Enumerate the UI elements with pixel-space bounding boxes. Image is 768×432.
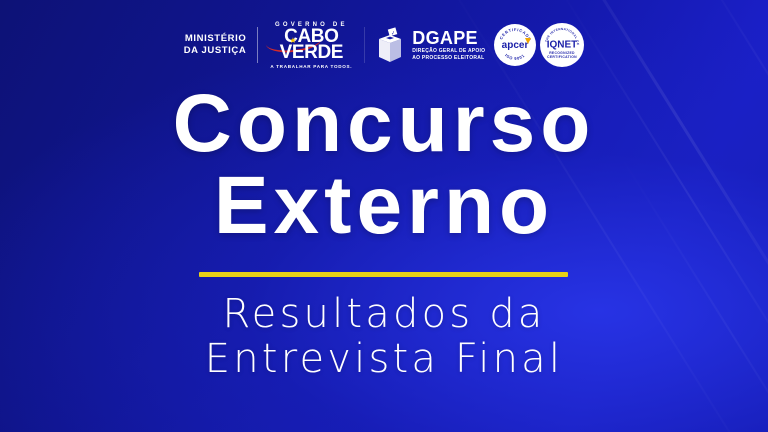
cabo-verde-wordmark: CABO VERDE xyxy=(270,29,352,62)
dgape-text: DGAPE DIREÇÃO GERAL DE APOIO AO PROCESSO… xyxy=(412,29,485,61)
subtitle-line-2: Entrevista Final xyxy=(0,337,768,382)
ministerio-text: MINISTÉRIO DA JUSTIÇA xyxy=(184,33,258,57)
title-line-1: Concurso xyxy=(0,84,768,164)
logo-divider xyxy=(364,27,365,63)
ministerio-line2: DA JUSTIÇA xyxy=(184,45,247,57)
svg-text:IQNET: IQNET xyxy=(547,40,578,51)
page-title: Concurso Externo xyxy=(0,84,768,246)
iqnet-seal-icon: THE INTERNATIONAL CERTIFICATION NETWORK … xyxy=(540,23,584,67)
dgape-subtitle: DIREÇÃO GERAL DE APOIO AO PROCESSO ELEIT… xyxy=(412,48,485,61)
cabo-verde-tagline: A TRABALHAR PARA TODOS. xyxy=(270,64,352,69)
dgape-sub-line2: AO PROCESSO ELEITORAL xyxy=(412,55,485,61)
ballot-box-icon: ✓ xyxy=(375,26,405,64)
certification-seals: CERTIFICADO ISO 9001 apcer THE INTERNATI… xyxy=(485,23,584,67)
header-logo-strip: MINISTÉRIO DA JUSTIÇA GOVERNO DE ★ CABO … xyxy=(0,14,768,76)
ministerio-line1: MINISTÉRIO xyxy=(184,33,247,45)
cabo-verde-line2: VERDE xyxy=(270,45,352,62)
apcer-seal-icon: CERTIFICADO ISO 9001 apcer xyxy=(494,24,536,66)
page-subtitle: Resultados da Entrevista Final xyxy=(0,292,768,382)
announcement-banner: MINISTÉRIO DA JUSTIÇA GOVERNO DE ★ CABO … xyxy=(0,0,768,432)
logo-dgape: ✓ DGAPE DIREÇÃO GERAL DE APOIO AO PROCES… xyxy=(365,26,485,64)
dgape-sub-line1: DIREÇÃO GERAL DE APOIO xyxy=(412,48,485,54)
logo-ministerio-justica: MINISTÉRIO DA JUSTIÇA xyxy=(184,33,258,57)
gold-divider xyxy=(199,272,568,277)
title-line-2: Externo xyxy=(0,166,768,246)
svg-text:CERTIFICATION: CERTIFICATION xyxy=(547,55,577,59)
logo-governo-cabo-verde: GOVERNO DE ★ CABO VERDE A TRABALHAR PARA… xyxy=(258,22,364,69)
svg-text:apcer: apcer xyxy=(502,40,529,51)
subtitle-line-1: Resultados da xyxy=(0,292,768,337)
dgape-wordmark: DGAPE xyxy=(412,29,485,47)
